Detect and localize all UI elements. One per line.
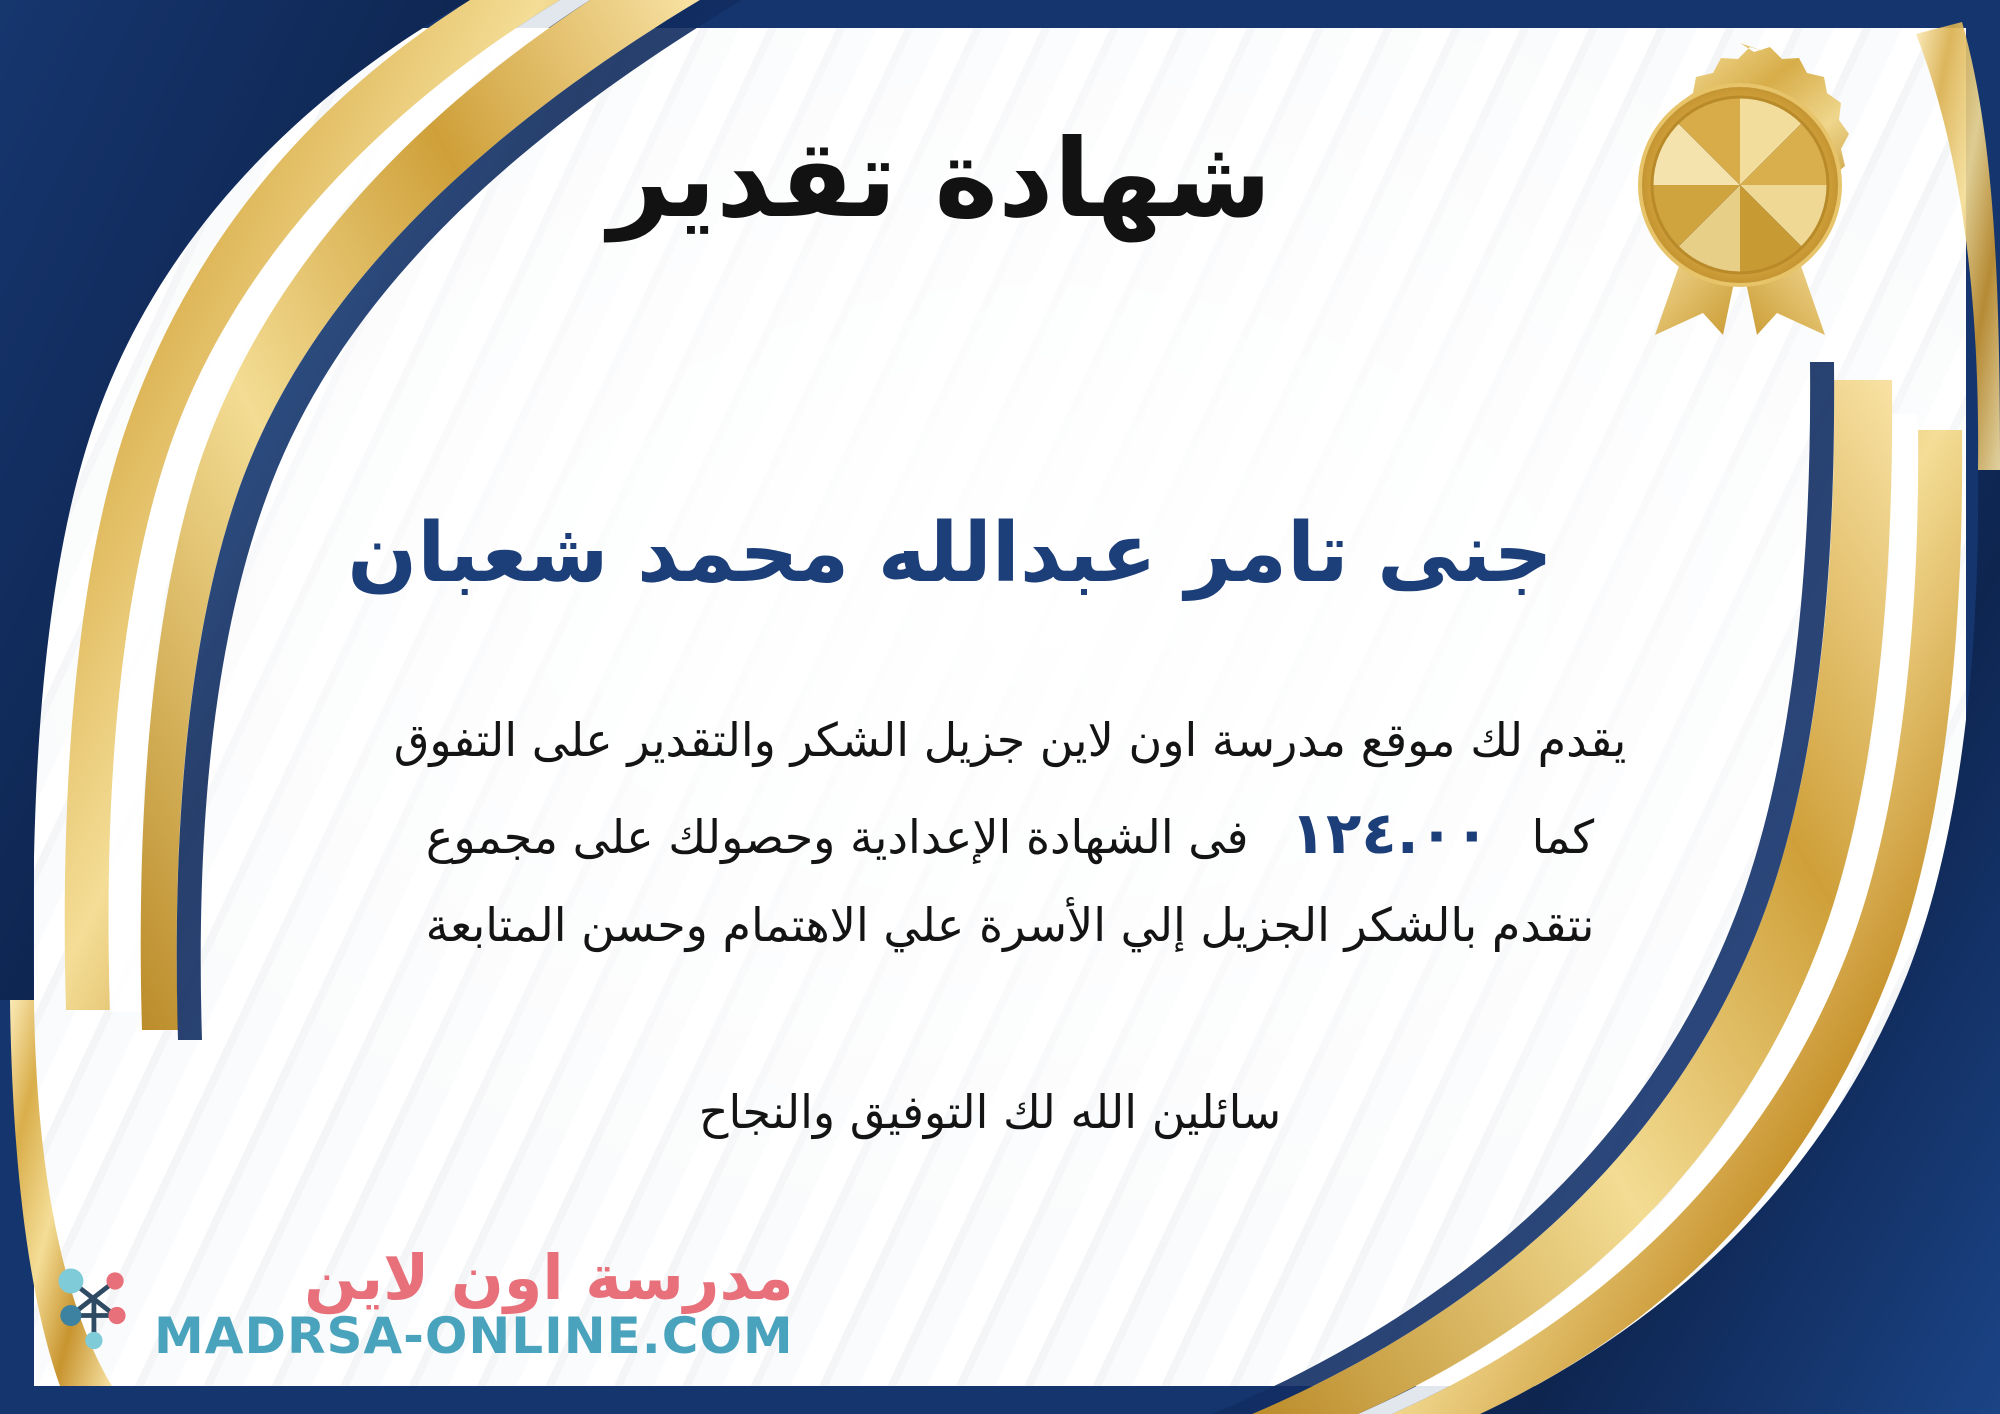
grade-total-value: ١٢٤.٠٠ — [1249, 799, 1532, 867]
certificate-title: شهادة تقدير — [60, 118, 1820, 242]
certificate-content: شهادة تقدير جنى تامر عبدالله محمد شعبان … — [60, 0, 1940, 1414]
student-name: جنى تامر عبدالله محمد شعبان — [60, 505, 1840, 603]
logo-arabic-name: مدرسة اون لاين — [304, 1246, 794, 1309]
logo-text-group: مدرسة اون لاين MADRSA-ONLINE.COM — [154, 1246, 794, 1362]
certificate-body: يقدم لك موقع مدرسة اون لاين جزيل الشكر و… — [60, 700, 1960, 967]
certificate-page: شهادة تقدير جنى تامر عبدالله محمد شعبان … — [0, 0, 2000, 1414]
site-logo[interactable]: مدرسة اون لاين MADRSA-ONLINE.COM — [44, 1246, 794, 1362]
network-nodes-icon — [44, 1256, 140, 1352]
closing-wish-text: سائلين الله لك التوفيق والنجاح — [60, 1085, 1920, 1139]
body-line-2-prefix: فى الشهادة الإعدادية وحصولك على مجموع — [426, 810, 1249, 864]
body-line-3: نتقدم بالشكر الجزيل إلي الأسرة علي الاهت… — [60, 885, 1960, 967]
body-line-1: يقدم لك موقع مدرسة اون لاين جزيل الشكر و… — [60, 700, 1960, 782]
logo-website-url: MADRSA-ONLINE.COM — [154, 1310, 794, 1363]
body-line-2-suffix: كما — [1532, 810, 1595, 864]
body-line-2: كما١٢٤.٠٠فى الشهادة الإعدادية وحصولك على… — [60, 782, 1960, 885]
